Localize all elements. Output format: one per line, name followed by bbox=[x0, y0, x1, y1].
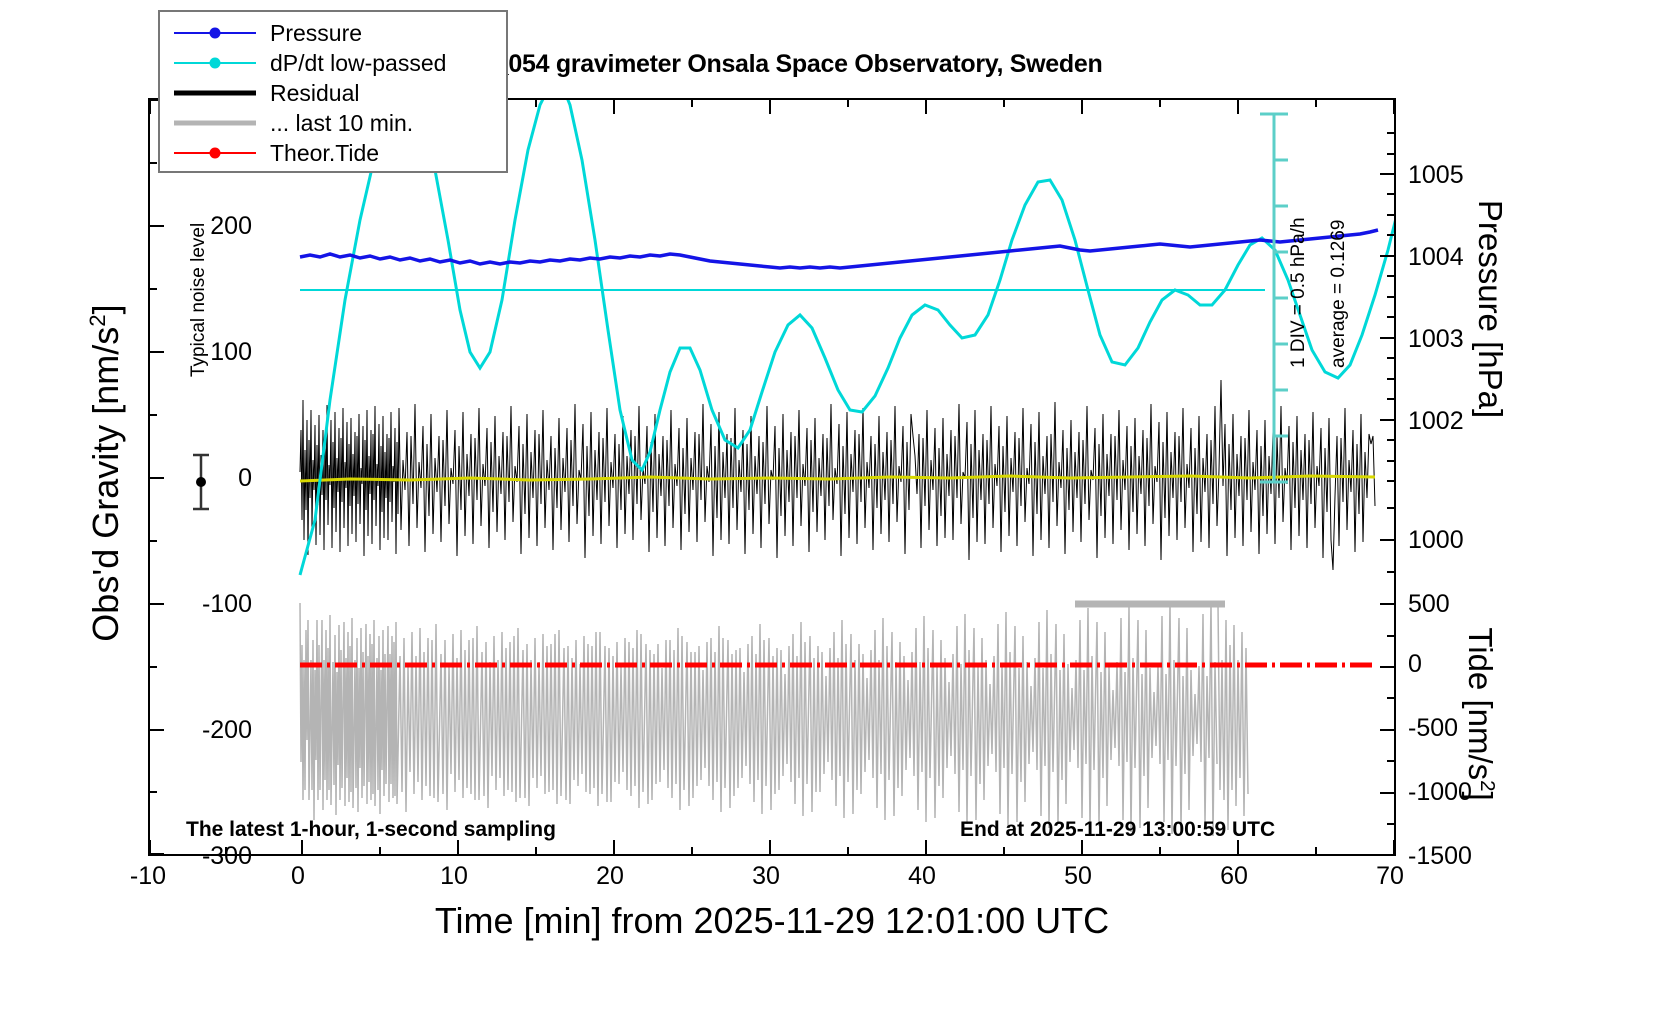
x-tick-70: 70 bbox=[1330, 864, 1450, 889]
pressure-tick-1003: 1003 bbox=[1408, 327, 1518, 352]
tide-tick-m1000: -1000 bbox=[1408, 780, 1518, 805]
x-tick-30: 30 bbox=[706, 864, 826, 889]
legend-item-theor-tide[interactable]: Theor.Tide bbox=[160, 138, 506, 168]
legend-swatch-pressure bbox=[174, 22, 256, 44]
tide-tick-1000: 1000 bbox=[1408, 528, 1518, 553]
note-end-time: End at 2025-11-29 13:00:59 UTC bbox=[960, 818, 1275, 842]
plot-canvas bbox=[150, 100, 1394, 854]
legend-item-last10[interactable]: ... last 10 min. bbox=[160, 108, 506, 138]
y-axis-left-title: Obs'd Gravity [nm/s2] bbox=[85, 123, 127, 823]
y-tick-m100: -100 bbox=[132, 592, 252, 617]
legend-item-residual[interactable]: Residual bbox=[160, 78, 506, 108]
y-axis-pressure-title: Pressure [hPa] bbox=[1471, 69, 1509, 549]
legend-swatch-theor-tide bbox=[174, 142, 256, 164]
legend-label-last10: ... last 10 min. bbox=[256, 110, 413, 137]
dpdt-division-label: 1 DIV = 0.5 hPa/h bbox=[1288, 118, 1310, 368]
note-latest-sampling: The latest 1-hour, 1-second sampling bbox=[186, 818, 556, 842]
series-residual bbox=[300, 380, 1375, 570]
y-tick-m200: -200 bbox=[132, 718, 252, 743]
x-tick-10: 10 bbox=[394, 864, 514, 889]
tide-tick-m500: -500 bbox=[1408, 716, 1518, 741]
x-tick-40: 40 bbox=[862, 864, 982, 889]
legend-swatch-last10 bbox=[174, 112, 256, 134]
x-tick-0: 0 bbox=[238, 864, 358, 889]
pressure-dot-scatter bbox=[300, 254, 1378, 259]
y-tick-0: 0 bbox=[132, 466, 252, 491]
pressure-tick-1002: 1002 bbox=[1408, 409, 1518, 434]
x-tick-m10: -10 bbox=[88, 864, 208, 889]
legend-label-dpdt: dP/dt low-passed bbox=[256, 50, 446, 77]
legend-swatch-dpdt bbox=[174, 52, 256, 74]
legend: Pressure dP/dt low-passed Residual ... l… bbox=[158, 10, 508, 173]
pressure-tick-1004: 1004 bbox=[1408, 245, 1518, 270]
typical-noise-level-label: Typical noise level bbox=[188, 167, 210, 377]
series-pressure bbox=[300, 230, 1378, 268]
x-tick-50: 50 bbox=[1018, 864, 1138, 889]
dpdt-scale-bar bbox=[1258, 108, 1290, 488]
legend-item-dpdt[interactable]: dP/dt low-passed bbox=[160, 48, 506, 78]
tide-tick-0: 0 bbox=[1408, 652, 1518, 677]
legend-label-pressure: Pressure bbox=[256, 20, 362, 47]
legend-swatch-residual bbox=[174, 82, 256, 104]
tide-tick-500: 500 bbox=[1408, 592, 1518, 617]
x-tick-60: 60 bbox=[1174, 864, 1294, 889]
plot-area: The latest 1-hour, 1-second sampling End… bbox=[148, 98, 1396, 856]
legend-label-theor-tide: Theor.Tide bbox=[256, 140, 379, 167]
dpdt-average-label: average = 0.1269 bbox=[1328, 118, 1350, 368]
legend-label-residual: Residual bbox=[256, 80, 360, 107]
pressure-tick-1005: 1005 bbox=[1408, 163, 1518, 188]
series-last-10-min bbox=[300, 602, 1248, 836]
x-tick-20: 20 bbox=[550, 864, 670, 889]
x-axis-title: Time [min] from 2025-11-29 12:01:00 UTC bbox=[148, 900, 1396, 942]
legend-item-pressure[interactable]: Pressure bbox=[160, 18, 506, 48]
